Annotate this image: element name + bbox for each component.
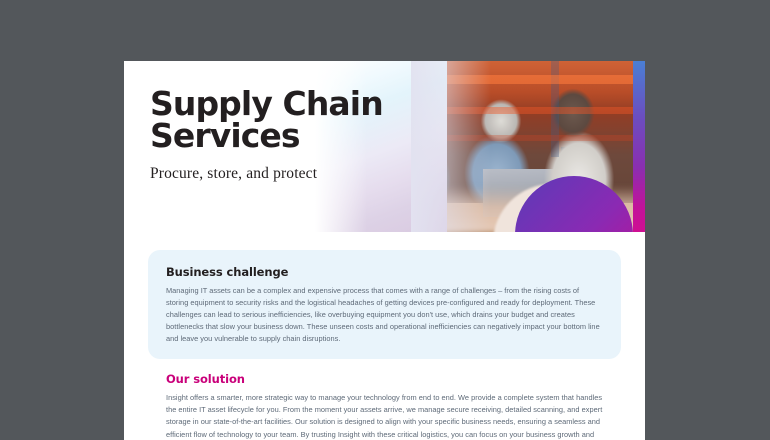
hero-text-block: Supply Chain Services Procure, store, an… (150, 88, 450, 183)
gradient-edge-bar (633, 61, 645, 232)
our-solution-heading: Our solution (166, 372, 603, 386)
business-challenge-heading: Business challenge (166, 265, 603, 279)
our-solution-section: Our solution Insight offers a smarter, m… (148, 372, 621, 440)
page-subtitle: Procure, store, and protect (150, 165, 450, 183)
hero-banner: Supply Chain Services Procure, store, an… (124, 61, 645, 232)
document-page: Supply Chain Services Procure, store, an… (124, 61, 645, 440)
business-challenge-card: Business challenge Managing IT assets ca… (148, 250, 621, 359)
our-solution-body: Insight offers a smarter, more strategic… (166, 392, 603, 440)
page-title: Supply Chain Services (150, 88, 450, 152)
business-challenge-body: Managing IT assets can be a complex and … (166, 285, 603, 345)
document-content: Business challenge Managing IT assets ca… (124, 250, 645, 440)
